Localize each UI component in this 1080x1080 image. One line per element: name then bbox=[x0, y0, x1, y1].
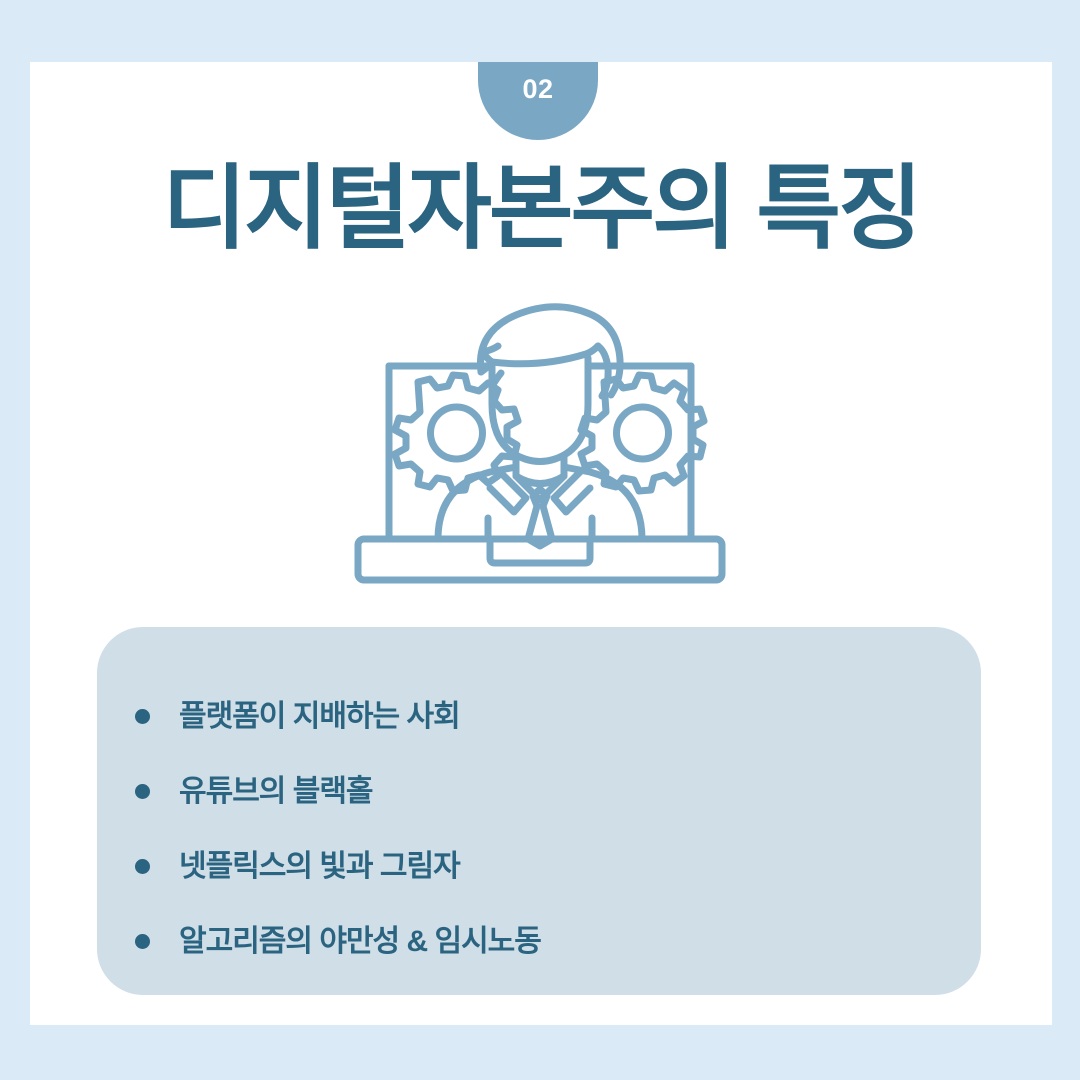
list-item: 유튜브의 블랙홀 bbox=[97, 754, 981, 829]
list-item: 알고리즘의 야만성 & 임시노동 bbox=[97, 904, 981, 979]
illustration-businessman-laptop-gears bbox=[340, 296, 740, 592]
bullet-dot-icon bbox=[135, 859, 150, 874]
list-item-label: 유튜브의 블랙홀 bbox=[179, 777, 373, 807]
slide-root: 02 디지털자본주의 특징 bbox=[0, 0, 1080, 1080]
laptop-worker-gears-icon bbox=[340, 296, 740, 592]
person-hair-bottom-edge bbox=[492, 346, 598, 364]
list-item: 넷플릭스의 빛과 그림자 bbox=[97, 829, 981, 904]
list-item-label: 넷플릭스의 빛과 그림자 bbox=[179, 852, 460, 882]
list-item-label: 플랫폼이 지배하는 사회 bbox=[179, 702, 460, 732]
bullet-dot-icon bbox=[135, 934, 150, 949]
list-item: 플랫폼이 지배하는 사회 bbox=[97, 679, 981, 754]
page-title: 디지털자본주의 특징 bbox=[30, 158, 1052, 261]
bullet-list-panel: 플랫폼이 지배하는 사회 유튜브의 블랙홀 넷플릭스의 빛과 그림자 알고리즘의… bbox=[97, 627, 981, 995]
bullet-dot-icon bbox=[135, 709, 150, 724]
list-item-label: 알고리즘의 야만성 & 임시노동 bbox=[179, 927, 541, 957]
gear-left-hole bbox=[431, 407, 483, 459]
person-hair-right-lock bbox=[598, 346, 608, 396]
gear-right-hole bbox=[617, 407, 669, 459]
section-number-label: 02 bbox=[522, 76, 553, 103]
bullet-dot-icon bbox=[135, 784, 150, 799]
